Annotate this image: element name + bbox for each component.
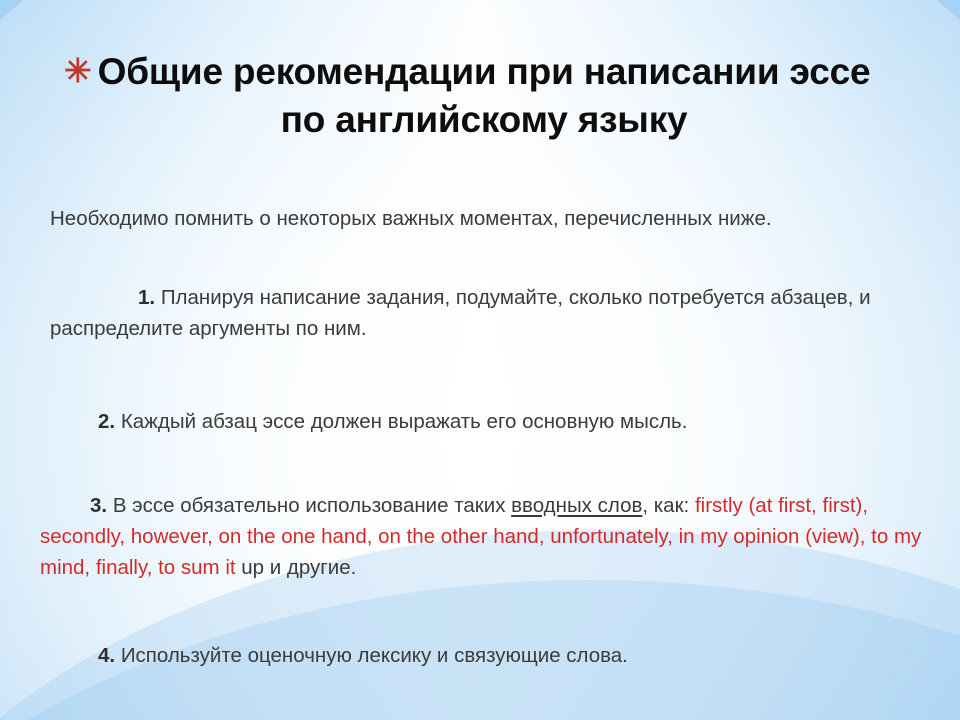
asterisk-bullet-icon: ✳ — [64, 54, 92, 87]
list-item-3-underlined-term: вводных слов — [511, 494, 642, 517]
list-item-4-text: Используйте оценочную лексику и связующи… — [121, 644, 628, 667]
list-item-3-tail: up и другие. — [236, 556, 357, 579]
list-item-3: 3. В эссе обязательно использование таки… — [40, 491, 930, 583]
list-item-2-text: Каждый абзац эссе должен выражать его ос… — [121, 410, 688, 433]
list-item-3-mid: , как: — [642, 494, 695, 517]
intro-paragraph: Необходимо помнить о некоторых важных мо… — [50, 205, 930, 232]
list-item-3-lead: В эссе обязательно использование таких — [113, 494, 511, 517]
list-item-1-number: 1. — [138, 286, 155, 309]
list-item-4: 4. Используйте оценочную лексику и связу… — [50, 641, 930, 672]
list-item-3-number: 3. — [90, 494, 107, 517]
title-line-2: по английскому языку — [56, 96, 912, 144]
slide-content: ✳ Общие рекомендации при написании эссе … — [0, 0, 960, 720]
list-item-2-number: 2. — [98, 410, 115, 433]
list-item-1: 1. Планируя написание задания, подумайте… — [50, 283, 930, 345]
list-item-2: 2. Каждый абзац эссе должен выражать его… — [50, 407, 930, 438]
list-item-4-number: 4. — [98, 644, 115, 667]
slide-title: ✳ Общие рекомендации при написании эссе … — [56, 48, 912, 144]
list-item-1-text: Планируя написание задания, подумайте, с… — [50, 286, 871, 340]
title-line-1: Общие рекомендации при написании эссе — [56, 48, 912, 96]
slide-canvas: ✳ Общие рекомендации при написании эссе … — [0, 0, 960, 720]
